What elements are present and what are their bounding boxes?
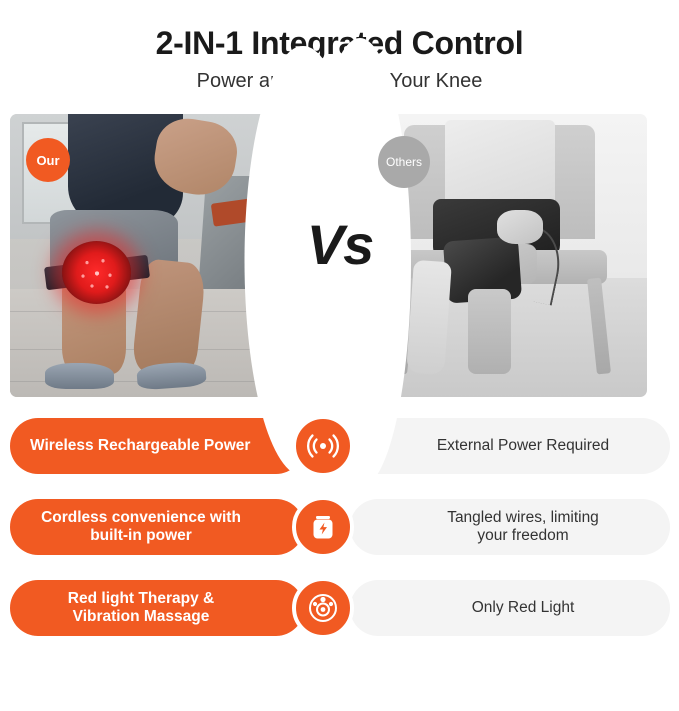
our-feature-text: Cordless convenience with built-in power xyxy=(41,509,241,545)
feature-rows: Wireless Rechargeable Power External Pow… xyxy=(0,418,679,661)
our-feature-text: Wireless Rechargeable Power xyxy=(30,437,250,455)
feature-row: Cordless convenience with built-in power… xyxy=(0,499,679,555)
product-comparison-infographic: 2-IN-1 Integrated Control Power and Cont… xyxy=(0,0,679,711)
seated-person-sock xyxy=(406,260,451,376)
seated-person-torso xyxy=(445,120,555,211)
our-feature-text: Red light Therapy & Vibration Massage xyxy=(68,590,214,626)
vs-label: Vs xyxy=(285,212,395,277)
battery-bolt-icon xyxy=(292,496,354,558)
red-light-vibration-icon xyxy=(292,577,354,639)
feature-row: Red light Therapy & Vibration Massage On… xyxy=(0,580,679,636)
our-feature-pill: Cordless convenience with built-in power xyxy=(10,499,304,555)
competitor-feature-pill: External Power Required xyxy=(350,418,670,474)
competitor-feature-text: Only Red Light xyxy=(472,599,575,617)
others-badge: Others xyxy=(378,136,430,188)
competitor-feature-pill: Only Red Light xyxy=(350,580,670,636)
person-shoe-left xyxy=(45,363,114,388)
our-feature-pill: Wireless Rechargeable Power xyxy=(10,418,304,474)
led-dots xyxy=(72,250,122,295)
red-light-knee-device xyxy=(62,241,131,303)
competitor-feature-text: Tangled wires, limiting your freedom xyxy=(447,509,599,545)
seated-person-shin xyxy=(468,289,511,374)
feature-row: Wireless Rechargeable Power External Pow… xyxy=(0,418,679,474)
competitor-feature-pill: Tangled wires, limiting your freedom xyxy=(350,499,670,555)
our-feature-pill: Red light Therapy & Vibration Massage xyxy=(10,580,304,636)
photo-comparison: Our Others Vs xyxy=(0,108,679,404)
page-title: 2-IN-1 Integrated Control xyxy=(0,0,679,61)
our-badge: Our xyxy=(26,138,70,182)
competitor-feature-text: External Power Required xyxy=(437,437,609,455)
seated-person-hand xyxy=(497,210,543,244)
wireless-signal-icon xyxy=(292,415,354,477)
